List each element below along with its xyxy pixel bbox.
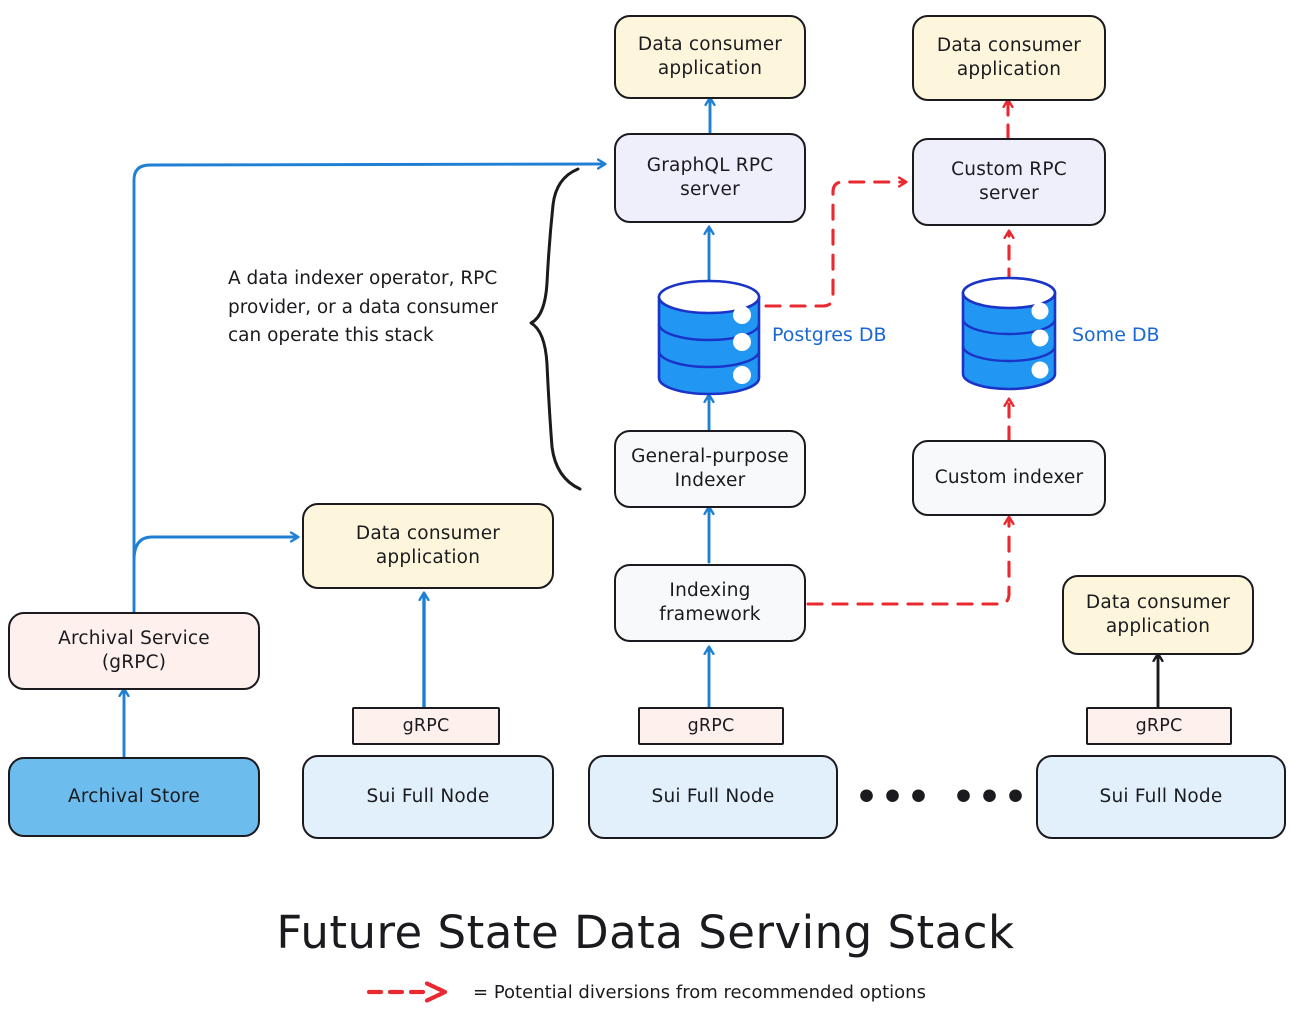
postgres-db-label: Postgres DB xyxy=(772,324,887,346)
node-general-purpose-indexer[interactable]: General-purpose Indexer xyxy=(614,430,806,508)
node-sui-full-node-center[interactable]: Sui Full Node xyxy=(588,755,838,839)
node-archival-service[interactable]: Archival Service (gRPC) xyxy=(8,612,260,690)
node-custom-indexer[interactable]: Custom indexer xyxy=(912,440,1106,516)
node-sui-full-node-right[interactable]: Sui Full Node xyxy=(1036,755,1286,839)
node-data-consumer-application-archival[interactable]: Data consumer application xyxy=(302,503,554,589)
node-archival-store[interactable]: Archival Store xyxy=(8,757,260,837)
ellipsis-left: ••• xyxy=(855,780,933,816)
arrow-framework-to-custom-indexer xyxy=(808,518,1009,604)
node-graphql-rpc-server[interactable]: GraphQL RPC server xyxy=(614,133,806,223)
postgres-db-icon xyxy=(659,281,759,394)
ellipsis-right: ••• xyxy=(952,780,1030,816)
node-grpc-left[interactable]: gRPC xyxy=(352,707,500,745)
node-custom-rpc-server[interactable]: Custom RPC server xyxy=(912,138,1106,226)
node-grpc-right[interactable]: gRPC xyxy=(1086,707,1232,745)
red-dashed-arrow-icon xyxy=(365,979,461,1005)
page-title: Future State Data Serving Stack xyxy=(0,906,1291,959)
stack-operator-annotation: A data indexer operator, RPC provider, o… xyxy=(228,265,518,351)
arrow-archival-service-to-consumer-app xyxy=(134,537,297,560)
some-db-label: Some DB xyxy=(1072,324,1160,346)
diagram-canvas: Data consumer application Data consumer … xyxy=(0,0,1291,1018)
node-data-consumer-application-graphql[interactable]: Data consumer application xyxy=(614,15,806,99)
some-db-icon xyxy=(963,278,1055,389)
node-data-consumer-application-fullnode[interactable]: Data consumer application xyxy=(1062,575,1254,655)
node-indexing-framework[interactable]: Indexing framework xyxy=(614,564,806,642)
curly-brace xyxy=(531,169,580,489)
node-grpc-center[interactable]: gRPC xyxy=(638,707,784,745)
node-data-consumer-application-custom[interactable]: Data consumer application xyxy=(912,15,1106,101)
legend: = Potential diversions from recommended … xyxy=(0,979,1291,1005)
legend-text: = Potential diversions from recommended … xyxy=(473,982,926,1003)
node-sui-full-node-left[interactable]: Sui Full Node xyxy=(302,755,554,839)
